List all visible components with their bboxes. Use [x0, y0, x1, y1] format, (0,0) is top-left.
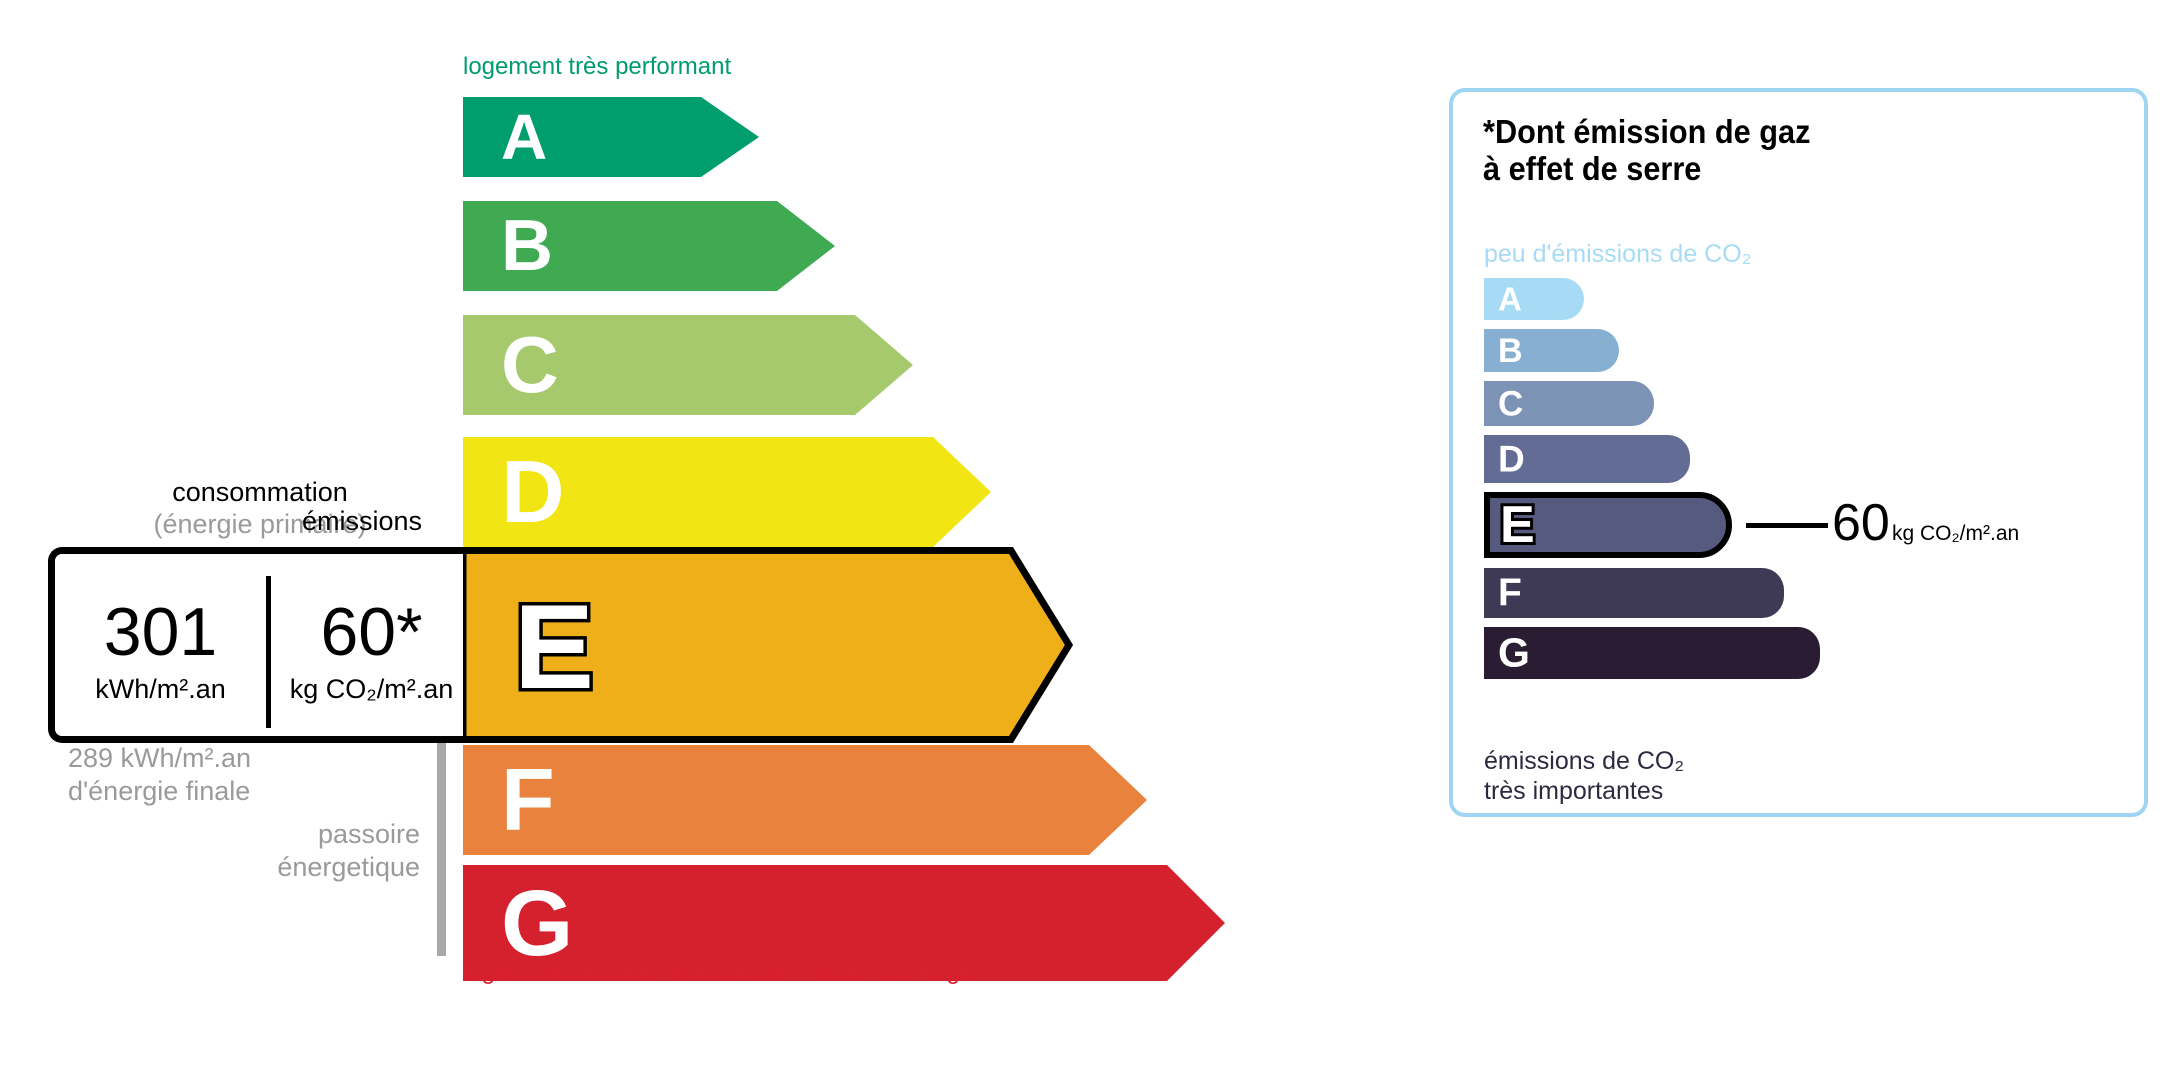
- co2-unit: kg CO₂/m².an: [269, 676, 474, 703]
- ges-band-shape-F: [1484, 568, 1784, 618]
- co2-value-cell: 60* kg CO₂/m².an: [269, 554, 474, 750]
- energy-bottom-caption: logement extrêmement consommateur d'éner…: [463, 958, 979, 986]
- energy-band-shape-F: [463, 745, 1147, 855]
- dpe-diagram: logement très performant ABCDFG consomma…: [0, 0, 2169, 1079]
- energy-band-letter-G: G: [501, 877, 573, 970]
- primary-energy-unit: kWh/m².an: [58, 676, 263, 703]
- energy-top-caption: logement très performant: [463, 53, 731, 81]
- emissions-label: émissions: [302, 506, 422, 537]
- primary-energy-value: 301: [58, 598, 263, 666]
- energy-band-letter-B: B: [501, 210, 553, 282]
- ges-band-letter-F: F: [1498, 574, 1522, 613]
- ges-band-shape-G: [1484, 627, 1820, 679]
- ges-band-letter-G: G: [1498, 633, 1530, 674]
- ges-top-caption: peu d'émissions de CO₂: [1484, 240, 1751, 269]
- value-box: 301 kWh/m².an 60* kg CO₂/m².an: [48, 547, 470, 743]
- ges-callout-value: 60: [1832, 497, 1890, 549]
- co2-value: 60*: [269, 598, 474, 666]
- ges-band-letter-D: D: [1498, 441, 1525, 478]
- ges-band-C: C: [1484, 381, 1654, 426]
- ges-band-D: D: [1484, 435, 1690, 483]
- primary-energy-value-cell: 301 kWh/m².an: [58, 554, 263, 750]
- energy-band-letter-C: C: [501, 325, 559, 405]
- energy-band-letter-D: D: [501, 448, 565, 536]
- passoire-label: passoire énergetique: [190, 818, 420, 884]
- ges-callout-unit: kg CO₂/m².an: [1892, 523, 2019, 544]
- final-energy-note: 289 kWh/m².an d'énergie finale: [68, 742, 251, 808]
- ges-band-letter-A: A: [1498, 283, 1522, 316]
- ges-band-A: A: [1484, 278, 1584, 320]
- passoire-rule: [437, 743, 446, 956]
- ges-band-B: B: [1484, 329, 1619, 372]
- ges-band-letter-C: C: [1498, 386, 1523, 421]
- ges-band-G: G: [1484, 627, 1820, 679]
- ges-band-letter-E: E: [1500, 499, 1535, 551]
- ges-panel-title: *Dont émission de gaz à effet de serre: [1483, 114, 1810, 188]
- ges-band-F: F: [1484, 568, 1784, 618]
- ges-callout-line: [1746, 523, 1828, 528]
- ges-panel: *Dont émission de gaz à effet de serre p…: [1449, 88, 2148, 817]
- selected-energy-row: 301 kWh/m².an 60* kg CO₂/m².an E: [48, 547, 1073, 743]
- ges-band-E: E: [1484, 492, 1732, 558]
- consumption-label: consommation: [172, 477, 348, 507]
- ges-band-letter-B: B: [1498, 334, 1523, 368]
- energy-band-letter-A: A: [501, 105, 547, 169]
- energy-band-letter-F: F: [501, 756, 555, 844]
- selected-band-letter-E: E: [514, 587, 594, 707]
- energy-performance-chart: logement très performant ABCDFG consomma…: [0, 0, 1260, 1079]
- ges-bottom-caption: émissions de CO₂ très importantes: [1484, 747, 1684, 806]
